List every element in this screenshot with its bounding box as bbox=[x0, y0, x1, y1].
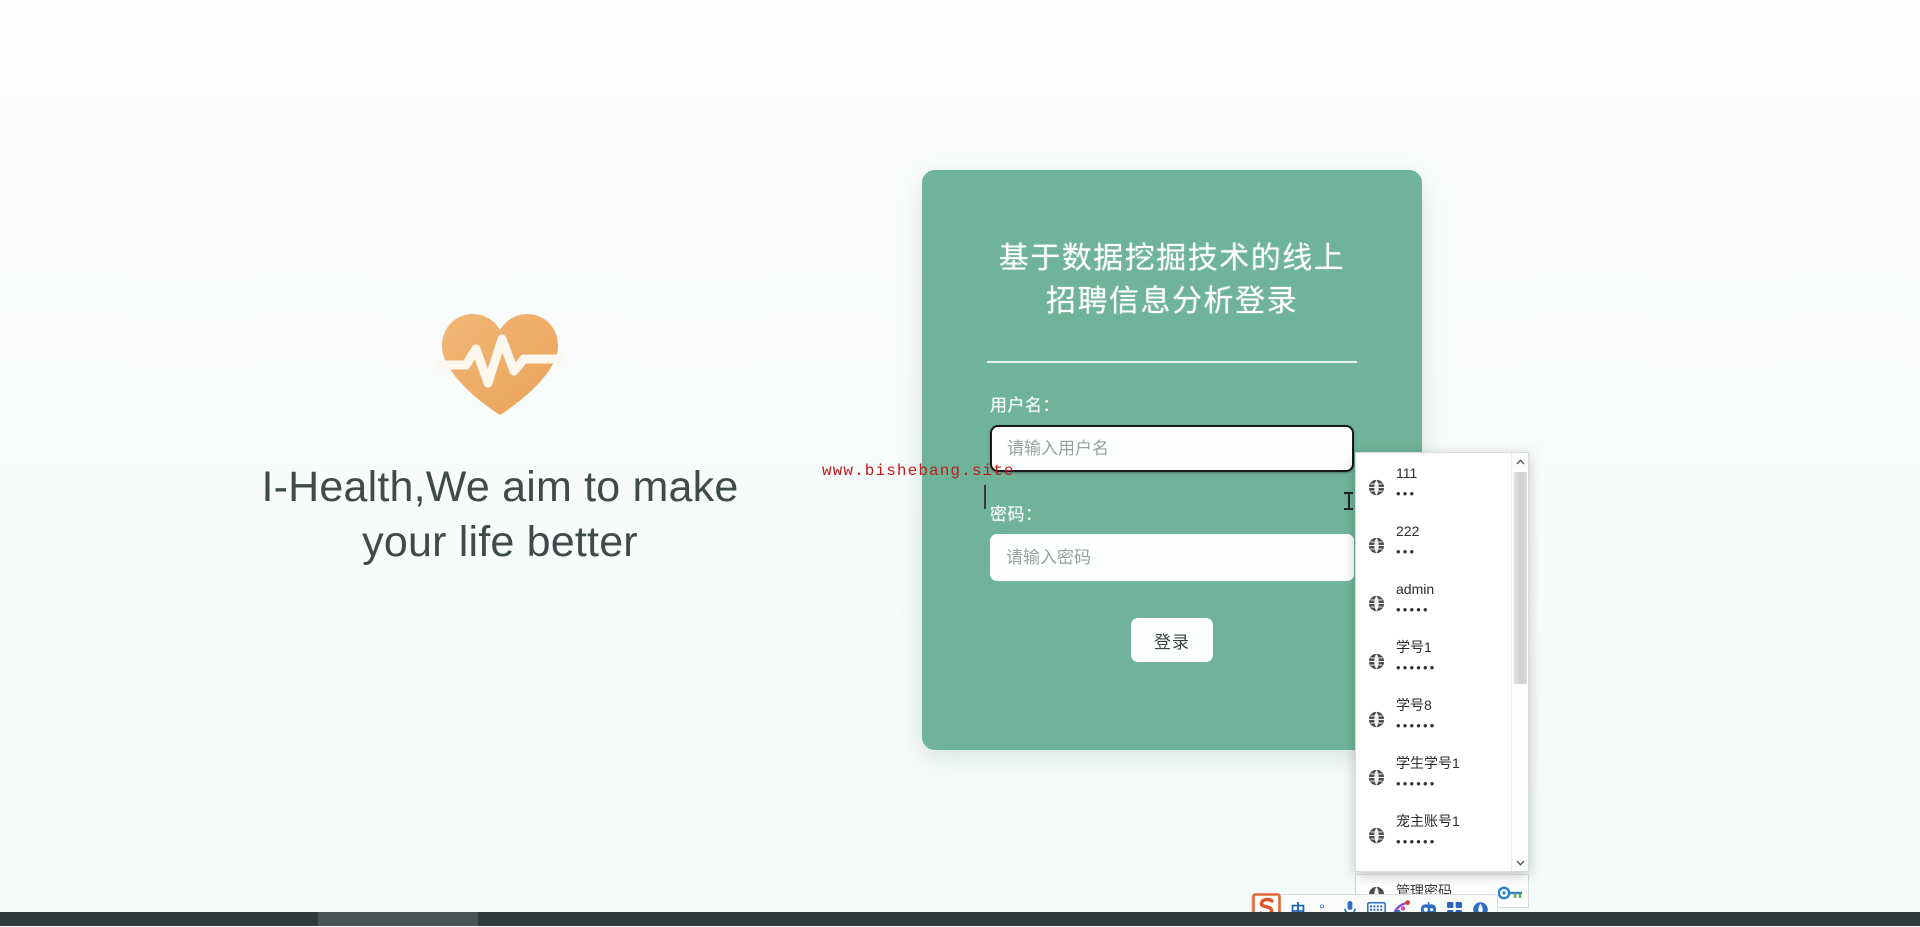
login-card: 基于数据挖掘技术的线上 招聘信息分析登录 用户名： 密码： 登录 bbox=[922, 170, 1422, 750]
autofill-entry-password-mask: •••••• bbox=[1396, 777, 1460, 790]
username-input[interactable] bbox=[990, 425, 1354, 472]
scrollbar-thumb[interactable] bbox=[1514, 472, 1527, 684]
text-caret bbox=[984, 485, 986, 509]
autofill-entry-username: 学生学号1 bbox=[1396, 756, 1460, 770]
autofill-entry-username: 宠主账号1 bbox=[1396, 814, 1460, 828]
autofill-entry-username: 222 bbox=[1396, 524, 1419, 538]
autofill-entry-texts: 222••• bbox=[1396, 524, 1419, 558]
autofill-entry[interactable]: 学号1•••••• bbox=[1356, 633, 1511, 691]
heart-pulse-logo bbox=[150, 300, 850, 430]
username-label: 用户名： bbox=[990, 391, 1354, 416]
login-button-row: 登录 bbox=[922, 618, 1422, 662]
tagline-line-2: your life better bbox=[150, 515, 850, 570]
autofill-entry[interactable]: 111••• bbox=[1356, 459, 1511, 517]
globe-icon bbox=[1368, 827, 1385, 844]
autofill-entry-username: admin bbox=[1396, 582, 1434, 596]
autofill-entry-texts: 学号1•••••• bbox=[1396, 640, 1437, 674]
globe-icon bbox=[1368, 653, 1385, 670]
password-field-group: 密码： bbox=[922, 500, 1422, 581]
globe-icon bbox=[1368, 711, 1385, 728]
autofill-entry-texts: 111••• bbox=[1396, 466, 1417, 500]
autofill-entry-password-mask: ••• bbox=[1396, 545, 1419, 558]
password-label: 密码： bbox=[990, 500, 1354, 525]
autofill-entry-texts: 学生学号1•••••• bbox=[1396, 756, 1460, 790]
autofill-entry-list[interactable]: 111••• 222••• admin••••• 学号1•••••• 学号8••… bbox=[1356, 453, 1511, 871]
card-divider bbox=[987, 361, 1357, 363]
globe-icon bbox=[1368, 595, 1385, 612]
autofill-entry-texts: 宠主账号1•••••• bbox=[1396, 814, 1460, 848]
autofill-dropdown[interactable]: 111••• 222••• admin••••• 学号1•••••• 学号8••… bbox=[1355, 452, 1529, 872]
autofill-entry[interactable]: 学号8•••••• bbox=[1356, 691, 1511, 749]
key-icon[interactable] bbox=[1498, 886, 1524, 905]
autofill-entry[interactable]: admin••••• bbox=[1356, 575, 1511, 633]
autofill-entry[interactable]: 222••• bbox=[1356, 517, 1511, 575]
password-input[interactable] bbox=[990, 534, 1354, 581]
autofill-entry-username: 111 bbox=[1396, 466, 1417, 480]
login-button[interactable]: 登录 bbox=[1131, 618, 1213, 662]
globe-icon bbox=[1368, 537, 1385, 554]
autofill-entry-texts: admin••••• bbox=[1396, 582, 1434, 616]
site-watermark: www.bishebang.site bbox=[822, 462, 1015, 480]
username-field-group: 用户名： bbox=[922, 391, 1422, 472]
autofill-entry[interactable]: 宠主账号1•••••• bbox=[1356, 807, 1511, 865]
taskbar[interactable] bbox=[0, 912, 1920, 926]
autofill-entry-password-mask: •••••• bbox=[1396, 835, 1460, 848]
autofill-entry-password-mask: •••••• bbox=[1396, 661, 1437, 674]
chevron-up-icon[interactable] bbox=[1512, 453, 1529, 470]
autofill-entry[interactable]: 学生学号1•••••• bbox=[1356, 749, 1511, 807]
autofill-scrollbar[interactable] bbox=[1511, 453, 1528, 871]
tagline-line-1: I-Health,We aim to make bbox=[150, 460, 850, 515]
autofill-entry-username: 学号1 bbox=[1396, 640, 1437, 654]
autofill-entry-password-mask: •••••• bbox=[1396, 719, 1437, 732]
login-card-title: 基于数据挖掘技术的线上 招聘信息分析登录 bbox=[922, 170, 1422, 323]
page-background: I-Health,We aim to make your life better… bbox=[0, 0, 1920, 926]
brand-tagline: I-Health,We aim to make your life better bbox=[150, 460, 850, 570]
autofill-entry-texts: 学号8•••••• bbox=[1396, 698, 1437, 732]
taskbar-active-window[interactable] bbox=[318, 912, 478, 926]
globe-icon bbox=[1368, 769, 1385, 786]
autofill-entry-username: 学号8 bbox=[1396, 698, 1437, 712]
globe-icon bbox=[1368, 479, 1385, 496]
title-line-2: 招聘信息分析登录 bbox=[1046, 285, 1298, 318]
autofill-entry-password-mask: ••••• bbox=[1396, 603, 1434, 616]
title-line-1: 基于数据挖掘技术的线上 bbox=[999, 242, 1346, 275]
autofill-entry-password-mask: ••• bbox=[1396, 487, 1417, 500]
branding-block: I-Health,We aim to make your life better bbox=[150, 300, 850, 570]
mouse-ibeam-cursor bbox=[1344, 492, 1353, 510]
chevron-down-icon[interactable] bbox=[1512, 854, 1529, 871]
